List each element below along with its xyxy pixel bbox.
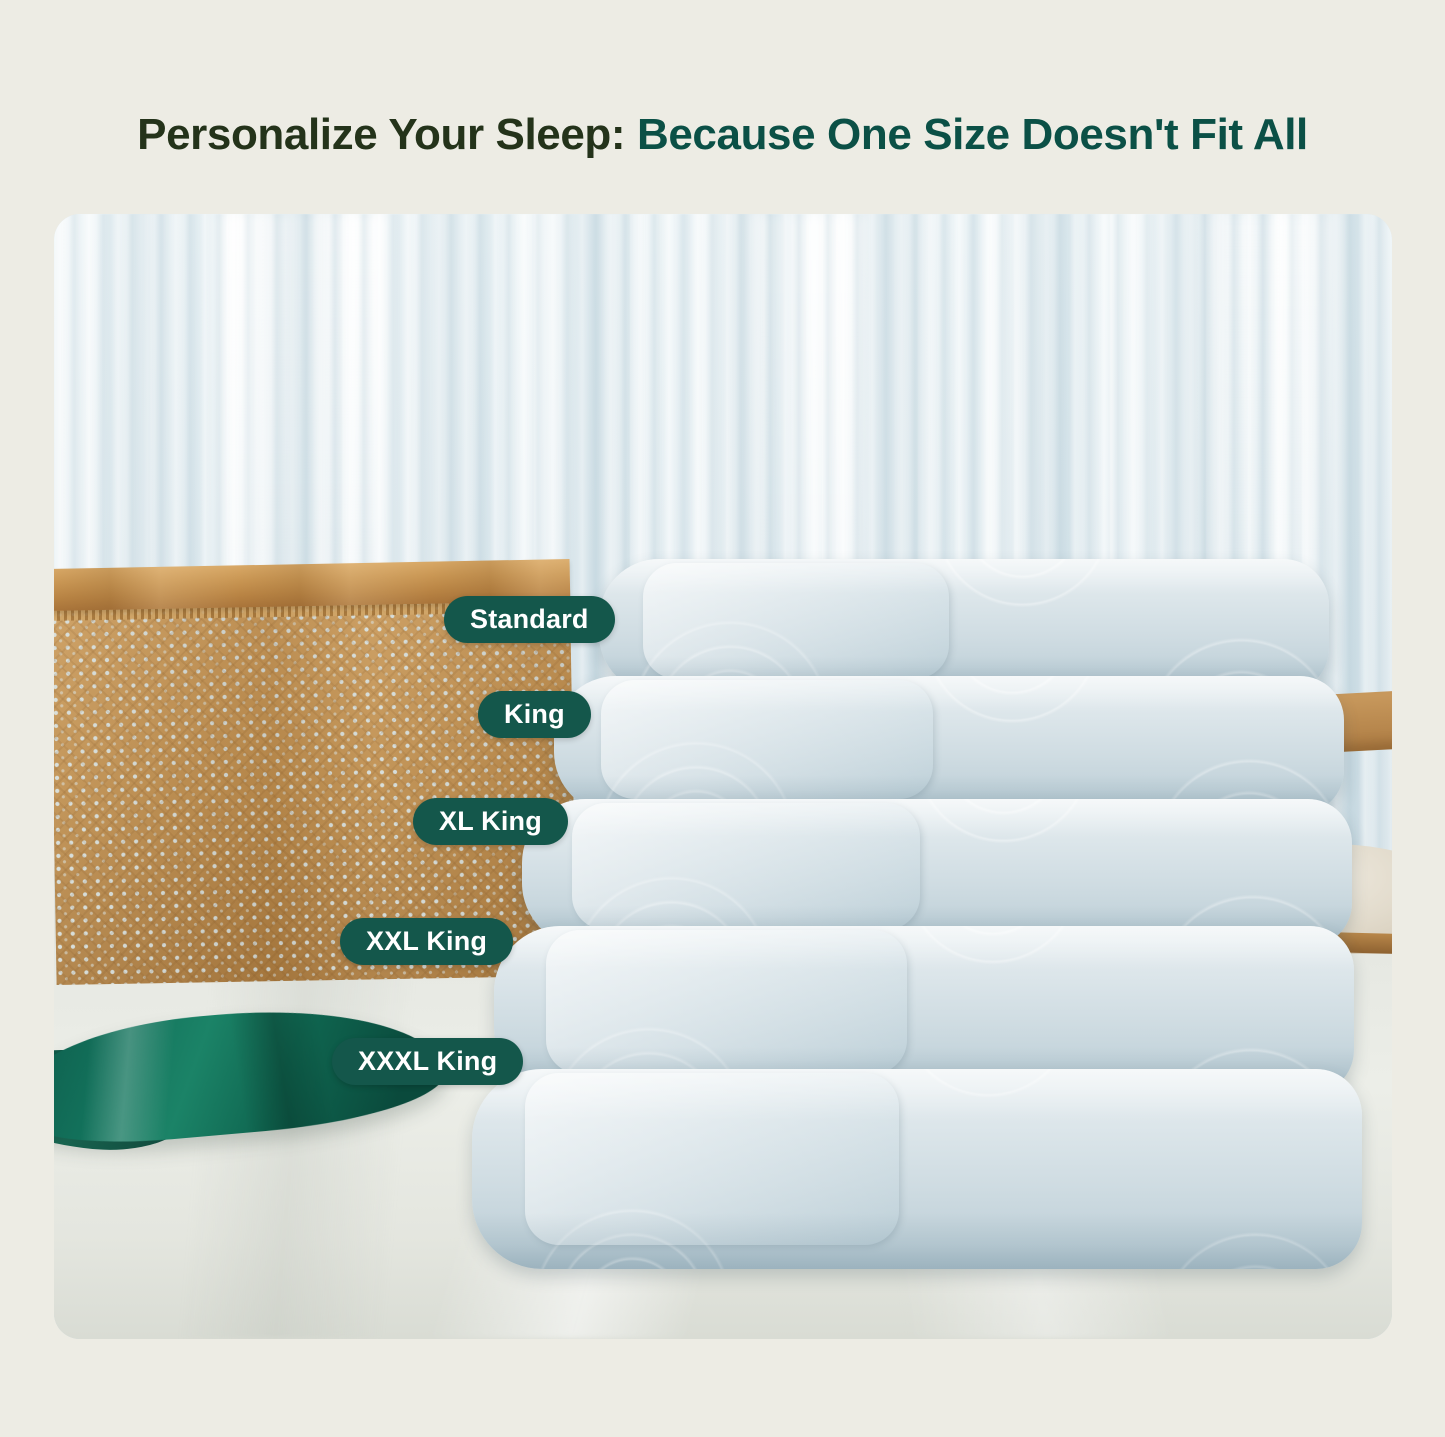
size-badge-xl-king[interactable]: XL King [413,798,568,845]
pillow-stack [54,214,1392,1339]
promo-graphic: Personalize Your Sleep: Because One Size… [0,0,1445,1437]
pillow-standard [599,559,1329,694]
pillow-fold [546,930,907,1074]
pillow-xl-king [522,799,1352,947]
product-photo: Standard King XL King XXL King XXXL King [54,214,1392,1339]
pillow-king [554,676,1344,814]
pillow-xxxl-king [472,1069,1362,1269]
pillow-fold [525,1073,899,1245]
size-badge-standard[interactable]: Standard [444,596,615,643]
size-badge-xxxl-king[interactable]: XXXL King [332,1038,523,1085]
page-title-part-a: Personalize Your Sleep: [137,110,625,159]
size-badge-king[interactable]: King [478,691,591,738]
page-title-part-b: Because One Size Doesn't Fit All [625,110,1308,159]
pillow-fold [572,803,921,930]
size-badge-xxl-king[interactable]: XXL King [340,918,513,965]
pillow-fold [643,563,950,679]
page-title: Personalize Your Sleep: Because One Size… [0,111,1445,159]
pillow-fold [601,680,933,799]
